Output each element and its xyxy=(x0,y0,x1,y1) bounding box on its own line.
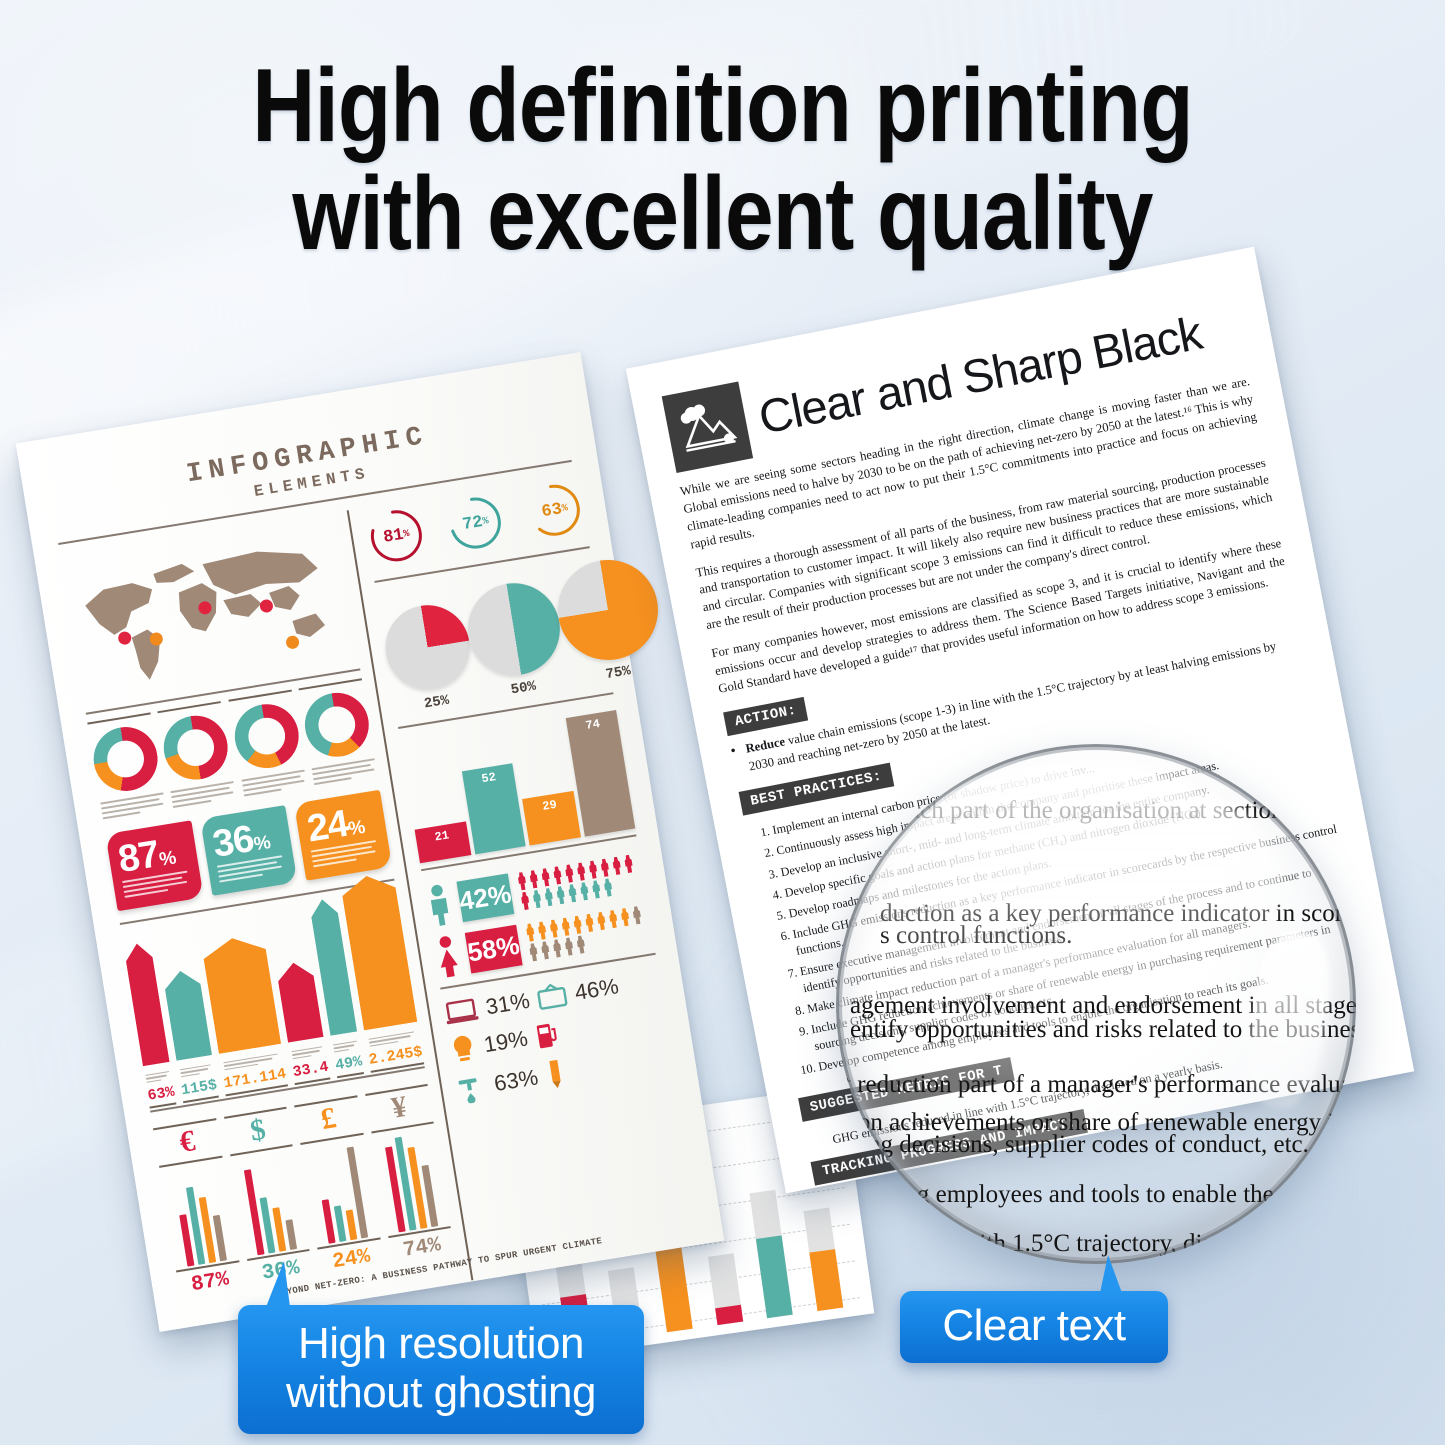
currency-value: 74% xyxy=(389,1232,455,1265)
arrow-bar-lorem xyxy=(146,1071,172,1086)
badge-pointer xyxy=(266,1261,290,1307)
arrow-bar-shape xyxy=(123,941,170,1071)
headline-line-1: High definition printing xyxy=(252,48,1193,164)
icon-stat-value: 63% xyxy=(492,1064,540,1097)
donut-chart xyxy=(87,712,166,822)
pie-slice xyxy=(380,599,476,695)
faucet-icon xyxy=(455,1071,489,1105)
person-icon xyxy=(622,854,635,873)
person-icon xyxy=(560,917,573,936)
male-icon xyxy=(424,881,455,928)
badge-clear-text: Clear text xyxy=(900,1291,1168,1363)
person-icon xyxy=(566,884,579,903)
currency-value: 24% xyxy=(318,1243,384,1276)
arrow-shape-icon xyxy=(123,941,169,1066)
person-icon xyxy=(610,856,623,875)
lightbulb-icon xyxy=(448,1032,478,1066)
person-icon xyxy=(607,909,620,928)
percent-ring: 63% xyxy=(522,477,589,544)
mountain-cloud-icon xyxy=(662,382,753,473)
people-pictogram-teal xyxy=(516,853,646,911)
badge-line-1: High resolution xyxy=(256,1319,626,1368)
donut-ring xyxy=(230,699,303,772)
arrow-shape-icon xyxy=(162,968,212,1061)
world-map xyxy=(62,522,359,707)
magnified-line: cing decisions, supplier codes of conduc… xyxy=(850,1129,1309,1160)
pie-slice xyxy=(461,576,567,682)
donut-ring xyxy=(300,688,373,761)
logo-badge xyxy=(662,382,753,473)
magnified-line: e among employees and tools to enable th… xyxy=(844,1179,1356,1210)
headline: High definition printing with excellent … xyxy=(116,52,1330,268)
pie-label: 25% xyxy=(394,688,479,717)
arrow-bar-label: 63% xyxy=(147,1084,176,1105)
world-map-icon xyxy=(62,522,359,707)
pencil-icon xyxy=(543,1057,568,1092)
magnified-line: t reduction part of a manager's performa… xyxy=(844,1069,1356,1100)
person-icon xyxy=(539,868,552,887)
donut-ring xyxy=(89,722,162,795)
person-icon xyxy=(531,889,544,908)
person-icon xyxy=(599,858,612,877)
currency-mini-bars xyxy=(302,1141,380,1246)
person-icon xyxy=(631,906,644,925)
person-icon xyxy=(543,887,556,906)
currency-mini-bars xyxy=(372,1129,450,1234)
column-bar: 29 xyxy=(522,791,580,846)
percent-card: 87% xyxy=(105,820,203,911)
pie-chart-row: 25%50%75% xyxy=(377,562,612,717)
donut-chart xyxy=(158,701,237,811)
pie-label: 50% xyxy=(477,673,570,704)
arrow-bar-shape xyxy=(162,968,212,1066)
person-icon xyxy=(575,935,588,954)
magnified-line: s control functions. xyxy=(880,920,1072,951)
currency-value: 87% xyxy=(177,1266,243,1299)
person-icon xyxy=(571,915,584,934)
column-bar-label: 52 xyxy=(462,767,515,789)
ring-label: 63% xyxy=(522,477,589,544)
column-bar-label: 74 xyxy=(566,714,619,736)
person-icon xyxy=(595,911,608,930)
person-icon xyxy=(539,941,552,960)
people-pictogram-red xyxy=(524,904,654,962)
percent-ring-row: 81%72%63% xyxy=(363,477,588,569)
badge-line-1: Clear text xyxy=(916,1302,1152,1350)
icon-stat-list: 31% 46% 19% xyxy=(443,967,676,1107)
ring-label: 72% xyxy=(442,490,509,557)
column-bar: 21 xyxy=(415,821,471,863)
person-icon xyxy=(551,866,564,885)
magnified-line: entify opportunities and risks related t… xyxy=(850,1014,1356,1045)
gender-male-value: 42% xyxy=(456,873,514,922)
person-icon xyxy=(563,937,576,956)
female-icon xyxy=(432,932,463,979)
person-icon xyxy=(519,891,532,910)
donut-chart xyxy=(228,690,307,800)
badge-high-resolution: High resolution without ghosting xyxy=(238,1305,644,1434)
person-icon xyxy=(590,880,603,899)
magnifier-lens: each part of the organisation at section… xyxy=(836,744,1356,1264)
arrow-shape-icon xyxy=(276,960,324,1043)
person-icon xyxy=(575,862,588,881)
donut-ring xyxy=(159,711,232,784)
magnified-line: in line with 1.5°C trajectory, disclosed… xyxy=(892,1228,1356,1259)
gender-female-value: 58% xyxy=(465,924,523,973)
chart-bar: 57.9 xyxy=(817,1308,843,1312)
arrow-bar-shape xyxy=(201,933,282,1059)
column-bar-label: 21 xyxy=(415,825,468,847)
currency-mini-bars xyxy=(231,1152,309,1257)
chart-bar: 85.4 xyxy=(667,1329,693,1333)
chart-bar: 39.5 xyxy=(717,1322,743,1326)
currency-mini-bars xyxy=(160,1164,238,1269)
pie-chart: 50% xyxy=(461,576,570,703)
icon-stat-value: 19% xyxy=(482,1026,530,1059)
ring-label: 81% xyxy=(363,503,430,570)
badge-pointer xyxy=(1100,1255,1122,1293)
column-bar-label: 29 xyxy=(523,795,576,817)
percent-ring: 81% xyxy=(363,503,430,570)
product-marketing-image: High definition printing with excellent … xyxy=(0,0,1445,1445)
laptop-icon xyxy=(443,997,480,1026)
pie-slice xyxy=(551,553,666,668)
arrow-shape-icon xyxy=(201,933,281,1054)
arrow-bar-label: 49% xyxy=(334,1054,363,1075)
person-icon xyxy=(551,939,564,958)
fuel-pump-icon xyxy=(533,1018,561,1051)
person-icon xyxy=(602,878,615,897)
magnified-text: each part of the organisation at section… xyxy=(836,744,1356,1264)
arrow-bar: 63% xyxy=(123,941,176,1109)
percent-card: 36% xyxy=(200,805,298,896)
person-icon xyxy=(563,864,576,883)
tv-icon xyxy=(535,982,569,1012)
person-icon xyxy=(587,860,600,879)
person-icon xyxy=(536,921,549,940)
column-bar: 52 xyxy=(462,763,526,854)
badge-line-2: without ghosting xyxy=(256,1368,626,1417)
icon-stat-value: 46% xyxy=(573,973,621,1006)
pie-chart: 75% xyxy=(551,553,669,689)
headline-line-2: with excellent quality xyxy=(116,160,1330,268)
person-icon xyxy=(527,943,540,962)
arrow-bar-shape xyxy=(276,960,325,1048)
percent-card: 24% xyxy=(294,790,392,881)
icon-stat-value: 31% xyxy=(484,988,532,1021)
donut-chart xyxy=(299,678,378,788)
magnified-line: each part of the organisation at section… xyxy=(898,795,1317,826)
person-icon xyxy=(619,907,632,926)
bullet-dot: • xyxy=(729,743,741,779)
person-icon xyxy=(528,870,541,889)
arrow-bar-lorem xyxy=(333,1040,359,1055)
person-icon xyxy=(554,885,567,904)
person-icon xyxy=(548,919,561,938)
person-icon xyxy=(578,882,591,901)
percent-ring: 72% xyxy=(442,490,509,557)
person-icon xyxy=(516,872,529,891)
person-icon xyxy=(583,913,596,932)
chart-bar: 71.8 xyxy=(767,1315,793,1319)
person-icon xyxy=(524,923,537,942)
arrow-bar-chart: 63%115$171.11433.449%2.245$ xyxy=(123,896,425,1108)
